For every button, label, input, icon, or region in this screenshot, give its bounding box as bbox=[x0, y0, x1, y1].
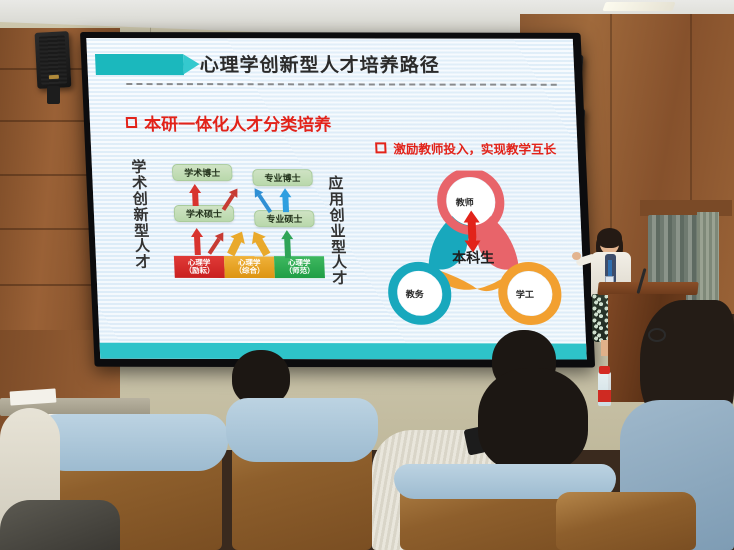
node-professional-master: 专业硕士 bbox=[254, 210, 315, 227]
seat-pad bbox=[226, 398, 378, 462]
arrow-red-up-doctor bbox=[189, 184, 202, 206]
side-label-applied: 应 用 创 业 型 人 才 bbox=[325, 176, 352, 287]
speaker-mount-left bbox=[47, 86, 60, 104]
square-bullet-icon bbox=[126, 117, 137, 128]
arrow-orange-v-right bbox=[248, 228, 273, 258]
bottle-cap bbox=[599, 366, 610, 374]
eyeglasses-icon bbox=[648, 328, 666, 342]
slide-title: 心理学创新型人才培养路径 bbox=[199, 50, 440, 77]
wall-speaker-left bbox=[35, 31, 72, 89]
triad-diagram: 教师 教务 学工 本科生 bbox=[380, 170, 566, 338]
projection-screen: 心理学创新型人才培养路径 本研一体化人才分类培养 激励教师投入，实现教学互长 学… bbox=[80, 32, 595, 368]
base-track-liyun: 心理学 （励耘） bbox=[174, 256, 225, 278]
seat-back bbox=[556, 492, 696, 550]
presenter-hand bbox=[572, 252, 581, 260]
base-track-zonghe: 心理学 （综合） bbox=[224, 256, 275, 278]
arrow-red-diagonal-lower bbox=[205, 230, 227, 257]
seat-front-right bbox=[556, 492, 696, 550]
attendee-foreground-left bbox=[0, 500, 120, 550]
square-bullet-icon bbox=[375, 142, 386, 153]
arrow-blue-up bbox=[279, 188, 292, 212]
arrow-blue-diagonal bbox=[250, 186, 274, 215]
teal-arrow-banner bbox=[95, 54, 184, 75]
arrow-red-up-master bbox=[191, 228, 204, 255]
heading-integrated-training: 本研一体化人才分类培养 bbox=[125, 110, 331, 135]
screen-bezel: 心理学创新型人才培养路径 本研一体化人才分类培养 激励教师投入，实现教学互长 学… bbox=[80, 32, 595, 368]
heading-text: 激励教师投入，实现教学互长 bbox=[393, 138, 557, 157]
node-academic-doctor: 学术博士 bbox=[172, 164, 233, 181]
arrow-green-up bbox=[281, 230, 294, 258]
presenter-hair bbox=[597, 228, 622, 248]
arrow-orange-v-left bbox=[224, 228, 248, 258]
triad-label-teacher: 教师 bbox=[455, 195, 474, 208]
triad-center-label: 本科生 bbox=[452, 248, 495, 268]
heading-teacher-motivation: 激励教师投入，实现教学互长 bbox=[375, 138, 557, 157]
heading-text: 本研一体化人才分类培养 bbox=[143, 110, 331, 135]
title-divider bbox=[126, 83, 557, 86]
ceiling-light bbox=[602, 2, 675, 11]
node-professional-doctor: 专业博士 bbox=[252, 169, 313, 186]
speaker-badge bbox=[49, 75, 59, 80]
side-label-academic: 学 术 创 新 型 人 才 bbox=[128, 160, 155, 271]
seat-back-center bbox=[232, 404, 372, 550]
base-track-shifan: 心理学 （师范） bbox=[274, 256, 325, 278]
attendee-front-left-head bbox=[478, 368, 588, 472]
slide-surface: 心理学创新型人才培养路径 本研一体化人才分类培养 激励教师投入，实现教学互长 学… bbox=[86, 38, 587, 360]
lecture-hall-scene: 心理学创新型人才培养路径 本研一体化人才分类培养 激励教师投入，实现教学互长 学… bbox=[0, 0, 734, 550]
seat-pad bbox=[36, 414, 228, 471]
bottle-label bbox=[598, 390, 611, 402]
triad-label-student-affairs: 学工 bbox=[516, 287, 535, 300]
triad-label-academic-affairs: 教务 bbox=[405, 287, 424, 300]
